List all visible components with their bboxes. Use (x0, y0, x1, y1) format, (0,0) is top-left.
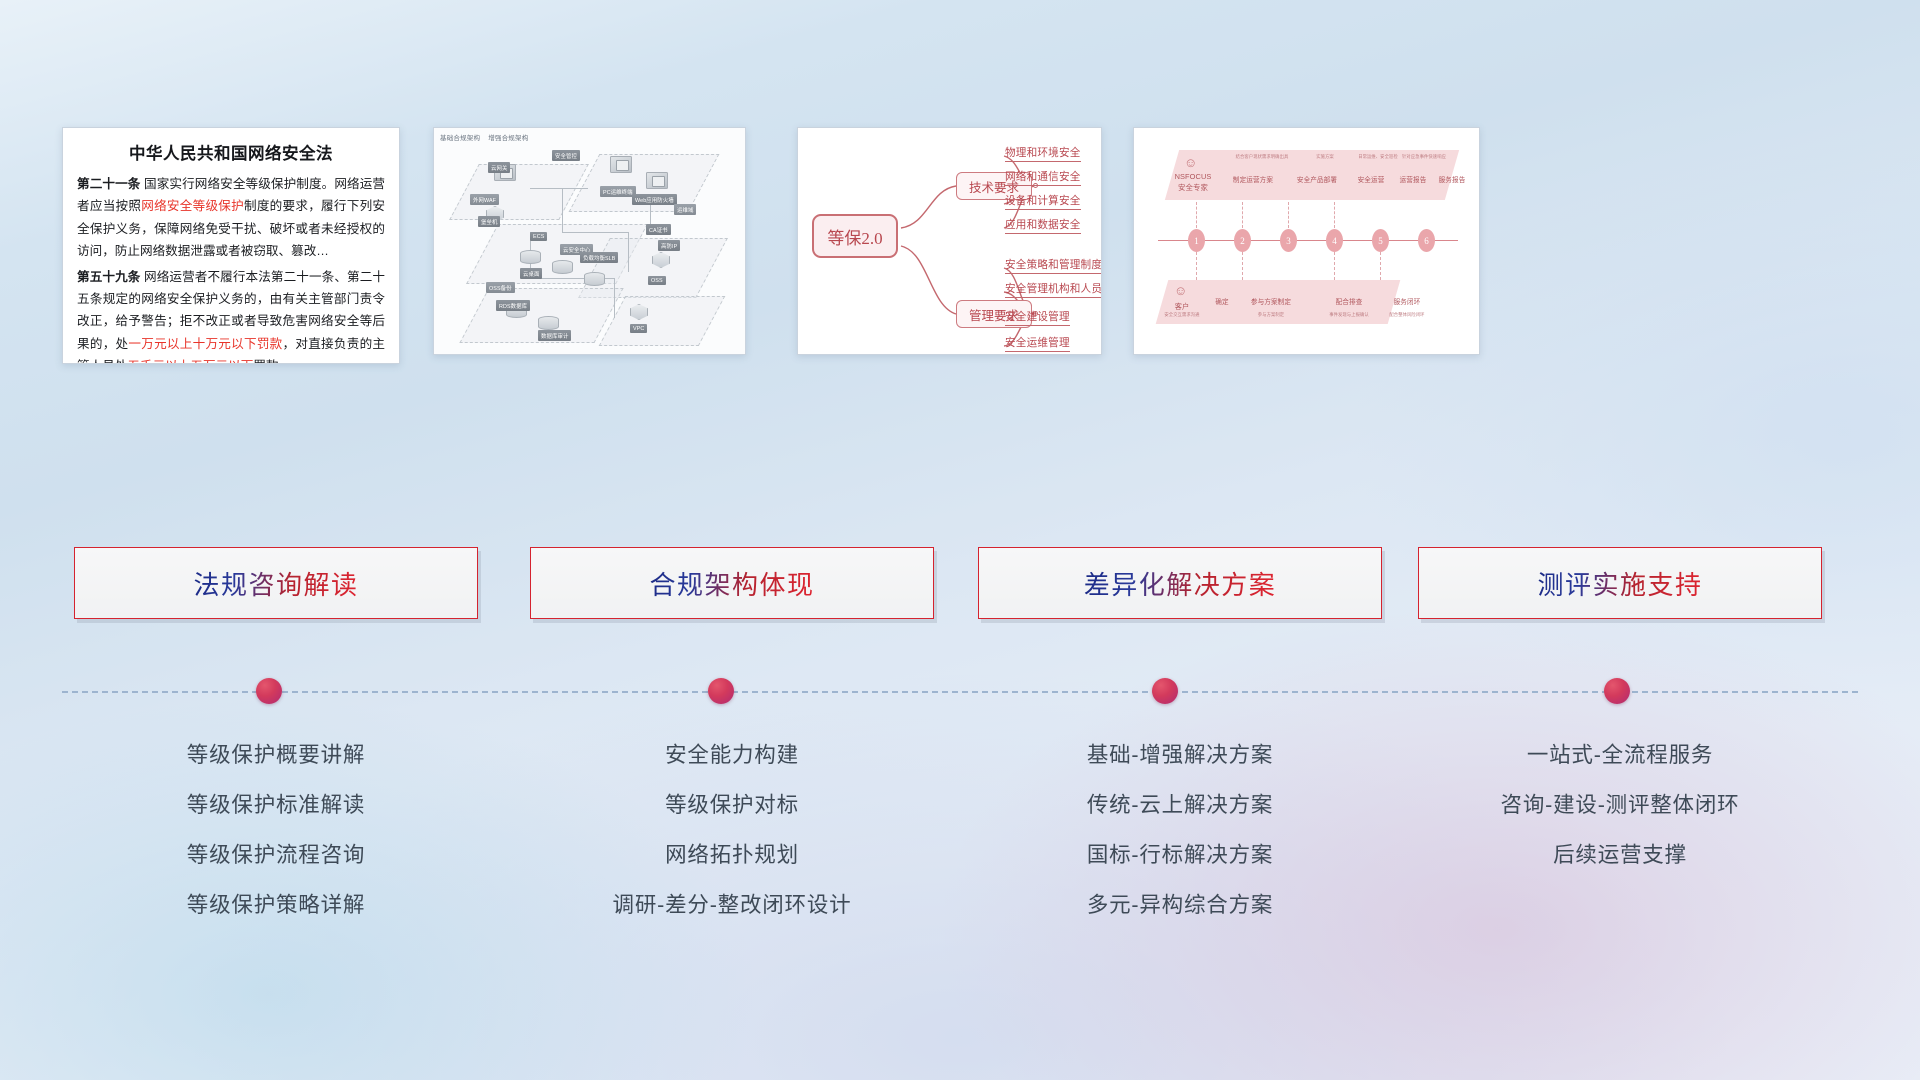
list-item: 等级保护标准解读 (74, 780, 478, 830)
mindmap-leaf: 安全管理机构和人员 (1005, 281, 1102, 298)
expert-person-icon: ☺ (1184, 156, 1197, 169)
law-article-59-label: 第五十九条 (77, 270, 140, 284)
nsf-step-note: 结合客户现状需求明确出具 (1224, 154, 1300, 160)
card-cybersecurity-law[interactable]: 中华人民共和国网络安全法 第二十一条 国家实行网络安全等级保护制度。网络运营者应… (62, 127, 400, 364)
law-article-21-label: 第二十一条 (77, 177, 140, 191)
law-article-59-part3: 罚款。 (253, 359, 291, 364)
nsf-step-label: 参与方案制定 (1238, 296, 1304, 306)
list-item: 调研-差分-整改闭环设计 (530, 880, 934, 930)
nsf-step-number: 2 (1234, 229, 1251, 252)
list-item: 等级保护概要讲解 (74, 730, 478, 780)
client-person-icon: ☺ (1174, 284, 1187, 297)
mindmap-leaf: 安全运维管理 (1005, 335, 1070, 352)
list-item: 网络拓扑规划 (530, 830, 934, 880)
timeline-marker-2[interactable] (708, 678, 734, 704)
section-title-box-4[interactable]: 测评实施支持 (1418, 547, 1822, 619)
list-item: 等级保护策略详解 (74, 880, 478, 930)
arch-node: RDS数据库 (496, 300, 530, 311)
nsf-step-label: 服务报告 (1430, 174, 1474, 184)
section-title-box-1[interactable]: 法规咨询解读 (74, 547, 478, 619)
list-item: 等级保护流程咨询 (74, 830, 478, 880)
nsf-connector (1380, 252, 1381, 280)
arch-node: 云桌面 (520, 268, 542, 279)
bullet-list-2: 安全能力构建 等级保护对标 网络拓扑规划 调研-差分-整改闭环设计 (530, 730, 934, 930)
nsf-connector (1288, 202, 1289, 228)
law-article-59: 第五十九条 网络运营者不履行本法第二十一条、第二十五条规定的网络安全保护义务的，… (77, 266, 385, 364)
arch-node: ECS (530, 232, 547, 241)
mindmap-leaf: 安全策略和管理制度 (1005, 257, 1102, 274)
law-article-21-highlight: 网络安全等级保护 (141, 199, 244, 213)
server-icon (610, 156, 632, 173)
section-title-box-3[interactable]: 差异化解决方案 (978, 547, 1382, 619)
arch-node: 云网关 (488, 162, 510, 173)
arch-node: 运维域 (674, 204, 696, 215)
list-item: 后续运营支撑 (1418, 830, 1822, 880)
timeline-marker-1[interactable] (256, 678, 282, 704)
timeline-marker-3[interactable] (1152, 678, 1178, 704)
arch-link (562, 188, 563, 232)
arch-link (614, 278, 615, 318)
arch-node: CA证书 (646, 224, 671, 235)
timeline-track (62, 691, 1858, 693)
list-item: 国标-行标解决方案 (978, 830, 1382, 880)
arch-node: 数据库审计 (538, 330, 571, 341)
arch-node: PC运维终端 (600, 186, 636, 197)
server-icon (646, 172, 668, 189)
timeline-marker-4[interactable] (1604, 678, 1630, 704)
list-item: 多元-异构综合方案 (978, 880, 1382, 930)
arch-diagram: 云网关 安全管控 外网WAF 堡垒机 PC运维终端 Web应用防火墙 CA证书 … (434, 128, 745, 354)
list-item: 咨询-建设-测评整体闭环 (1418, 780, 1822, 830)
nsf-client-label: 客户 (1160, 302, 1204, 312)
nsf-step-note: 参与方案制定 (1238, 312, 1304, 318)
slide-canvas: 中华人民共和国网络安全法 第二十一条 国家实行网络安全等级保护制度。网络运营者应… (0, 0, 1920, 1080)
nsf-brand: NSFOCUS (1164, 172, 1222, 181)
section-title-1: 法规咨询解读 (193, 565, 358, 602)
nsf-step-label: 安全运营 (1346, 174, 1396, 184)
mindmap-leaf: 设备和计算安全 (1005, 193, 1081, 210)
nsf-step-label: 制定运营方案 (1222, 174, 1284, 184)
law-article-59-highlight-2: 五千元以上五万元以下 (127, 359, 253, 364)
arch-node: Web应用防火墙 (632, 194, 677, 205)
nsf-step-note: 配合整体风险闭环 (1376, 312, 1438, 318)
card-nsfocus-service-timeline[interactable]: ☺ NSFOCUS 安全专家 结合客户现状需求明确出具 实施方案 日常运维、安全… (1133, 127, 1480, 355)
nsf-step-note: 事件发现与上报确认 (1316, 312, 1382, 318)
nsf-step-label: 安全产品部署 (1286, 174, 1348, 184)
nsf-connector (1334, 252, 1335, 280)
section-title-box-2[interactable]: 合规架构体现 (530, 547, 934, 619)
nsf-connector (1334, 202, 1335, 228)
nsf-connector (1196, 202, 1197, 228)
nsf-step-label: 确定 (1206, 296, 1238, 306)
arch-link (562, 232, 628, 233)
nsf-step-label: 配合排查 (1326, 296, 1372, 306)
mindmap-leaf: 安全建设管理 (1005, 309, 1070, 326)
nsf-step-note: 安全交互需求沟通 (1154, 312, 1210, 318)
nsf-brand-sub: 安全专家 (1164, 182, 1222, 193)
list-item: 等级保护对标 (530, 780, 934, 830)
law-article-59-highlight-1: 一万元以上十万元以下罚款 (128, 337, 282, 351)
nsf-connector (1242, 252, 1243, 280)
arch-node: VPC (630, 324, 647, 333)
arch-link (628, 232, 629, 272)
nsf-step-number: 6 (1418, 229, 1435, 252)
arch-link (530, 188, 588, 189)
arch-node: 外网WAF (470, 194, 499, 205)
nsf-step-number: 5 (1372, 229, 1389, 252)
arch-node: OSS备份 (486, 282, 515, 293)
list-item: 基础-增强解决方案 (978, 730, 1382, 780)
bullet-list-4: 一站式-全流程服务 咨询-建设-测评整体闭环 后续运营支撑 (1418, 730, 1822, 880)
law-title: 中华人民共和国网络安全法 (77, 140, 385, 164)
list-item: 一站式-全流程服务 (1418, 730, 1822, 780)
bullet-list-3: 基础-增强解决方案 传统-云上解决方案 国标-行标解决方案 多元-异构综合方案 (978, 730, 1382, 930)
storage-icon (552, 260, 573, 274)
nsf-step-number: 3 (1280, 229, 1297, 252)
nsf-step-number: 1 (1188, 229, 1205, 252)
storage-icon (538, 316, 559, 330)
arch-zone-plate (599, 296, 726, 346)
mindmap-root: 等保2.0 (812, 214, 898, 258)
mindmap-leaf: 应用和数据安全 (1005, 217, 1081, 234)
arch-node: 安全管控 (552, 150, 580, 161)
nsf-step-label: 服务闭环 (1384, 296, 1430, 306)
nsf-connector (1242, 202, 1243, 228)
arch-node: 负载均衡SLB (580, 252, 618, 263)
nsf-step-note: 实施方案 (1302, 154, 1348, 160)
card-compliance-architecture[interactable]: 基础合规架构增强合规架构 (433, 127, 746, 355)
storage-icon (520, 250, 541, 264)
arch-node: 高防IP (658, 240, 680, 251)
section-title-3: 差异化解决方案 (1084, 565, 1277, 602)
list-item: 传统-云上解决方案 (978, 780, 1382, 830)
arch-node: 堡垒机 (478, 216, 500, 227)
mindmap-leaf: 网络和通信安全 (1005, 169, 1081, 186)
nsf-connector (1196, 252, 1197, 280)
nsf-step-number: 4 (1326, 229, 1343, 252)
card-dengbao-mindmap[interactable]: 等保2.0 技术要求 管理要求 物理和环境安全 网络和通信安全 设备和计算安全 … (797, 127, 1102, 355)
section-title-2: 合规架构体现 (649, 565, 814, 602)
section-title-4: 测评实施支持 (1537, 565, 1702, 602)
mindmap-leaf: 物理和环境安全 (1005, 145, 1081, 162)
bullet-list-1: 等级保护概要讲解 等级保护标准解读 等级保护流程咨询 等级保护策略详解 (74, 730, 478, 930)
storage-icon (584, 272, 605, 286)
law-article-21: 第二十一条 国家实行网络安全等级保护制度。网络运营者应当按照网络安全等级保护制度… (77, 173, 385, 263)
list-item: 安全能力构建 (530, 730, 934, 780)
nsf-step-note: 针对应急事件快速响应 (1396, 154, 1452, 160)
arch-node: OSS (648, 276, 666, 285)
